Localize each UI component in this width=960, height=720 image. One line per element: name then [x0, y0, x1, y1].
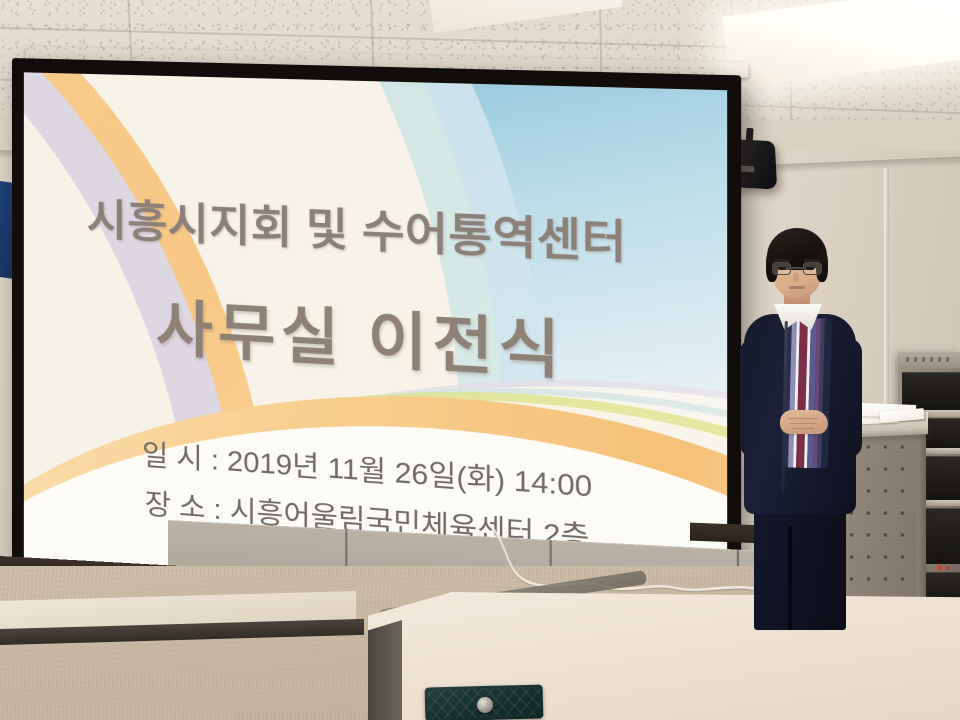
- rack-vent-slot: [914, 357, 917, 362]
- rack-status-led: [946, 566, 950, 570]
- hand-finger-line: [792, 428, 814, 429]
- presenter-mouth: [789, 286, 805, 289]
- hand-finger-line: [790, 423, 816, 424]
- rack-vent-slot: [922, 357, 925, 362]
- eyeglass-bridge: [791, 267, 803, 269]
- rack-top-vent-panel: [898, 352, 960, 368]
- slide-title-line-1: 시흥시지회 및 수어통역센터: [24, 182, 700, 275]
- rack-vent-slot: [930, 357, 933, 362]
- hand-finger-line: [788, 418, 818, 419]
- presenter-legs: [754, 502, 846, 630]
- slide-title-line-2: 사무실 이전식: [24, 273, 716, 401]
- quilted-clutch-wallet[interactable]: [425, 684, 544, 720]
- photo-scene: 시흥시지회 및 수어통역센터 사무실 이전식 일 시 : 2019년 11월 2…: [0, 0, 960, 720]
- rack-vent-slot: [906, 357, 909, 362]
- table-left-edge: [368, 620, 402, 720]
- presenter-eye: [806, 267, 814, 270]
- presenter-leg-gap: [788, 526, 792, 630]
- presenter-eye: [778, 267, 786, 270]
- presenter-sweater-stripe-panel: [782, 317, 832, 468]
- rack-status-led: [938, 566, 942, 570]
- rack-vent-slot: [946, 357, 949, 362]
- presenter-hands: [780, 410, 828, 434]
- rack-vent-slot: [938, 357, 941, 362]
